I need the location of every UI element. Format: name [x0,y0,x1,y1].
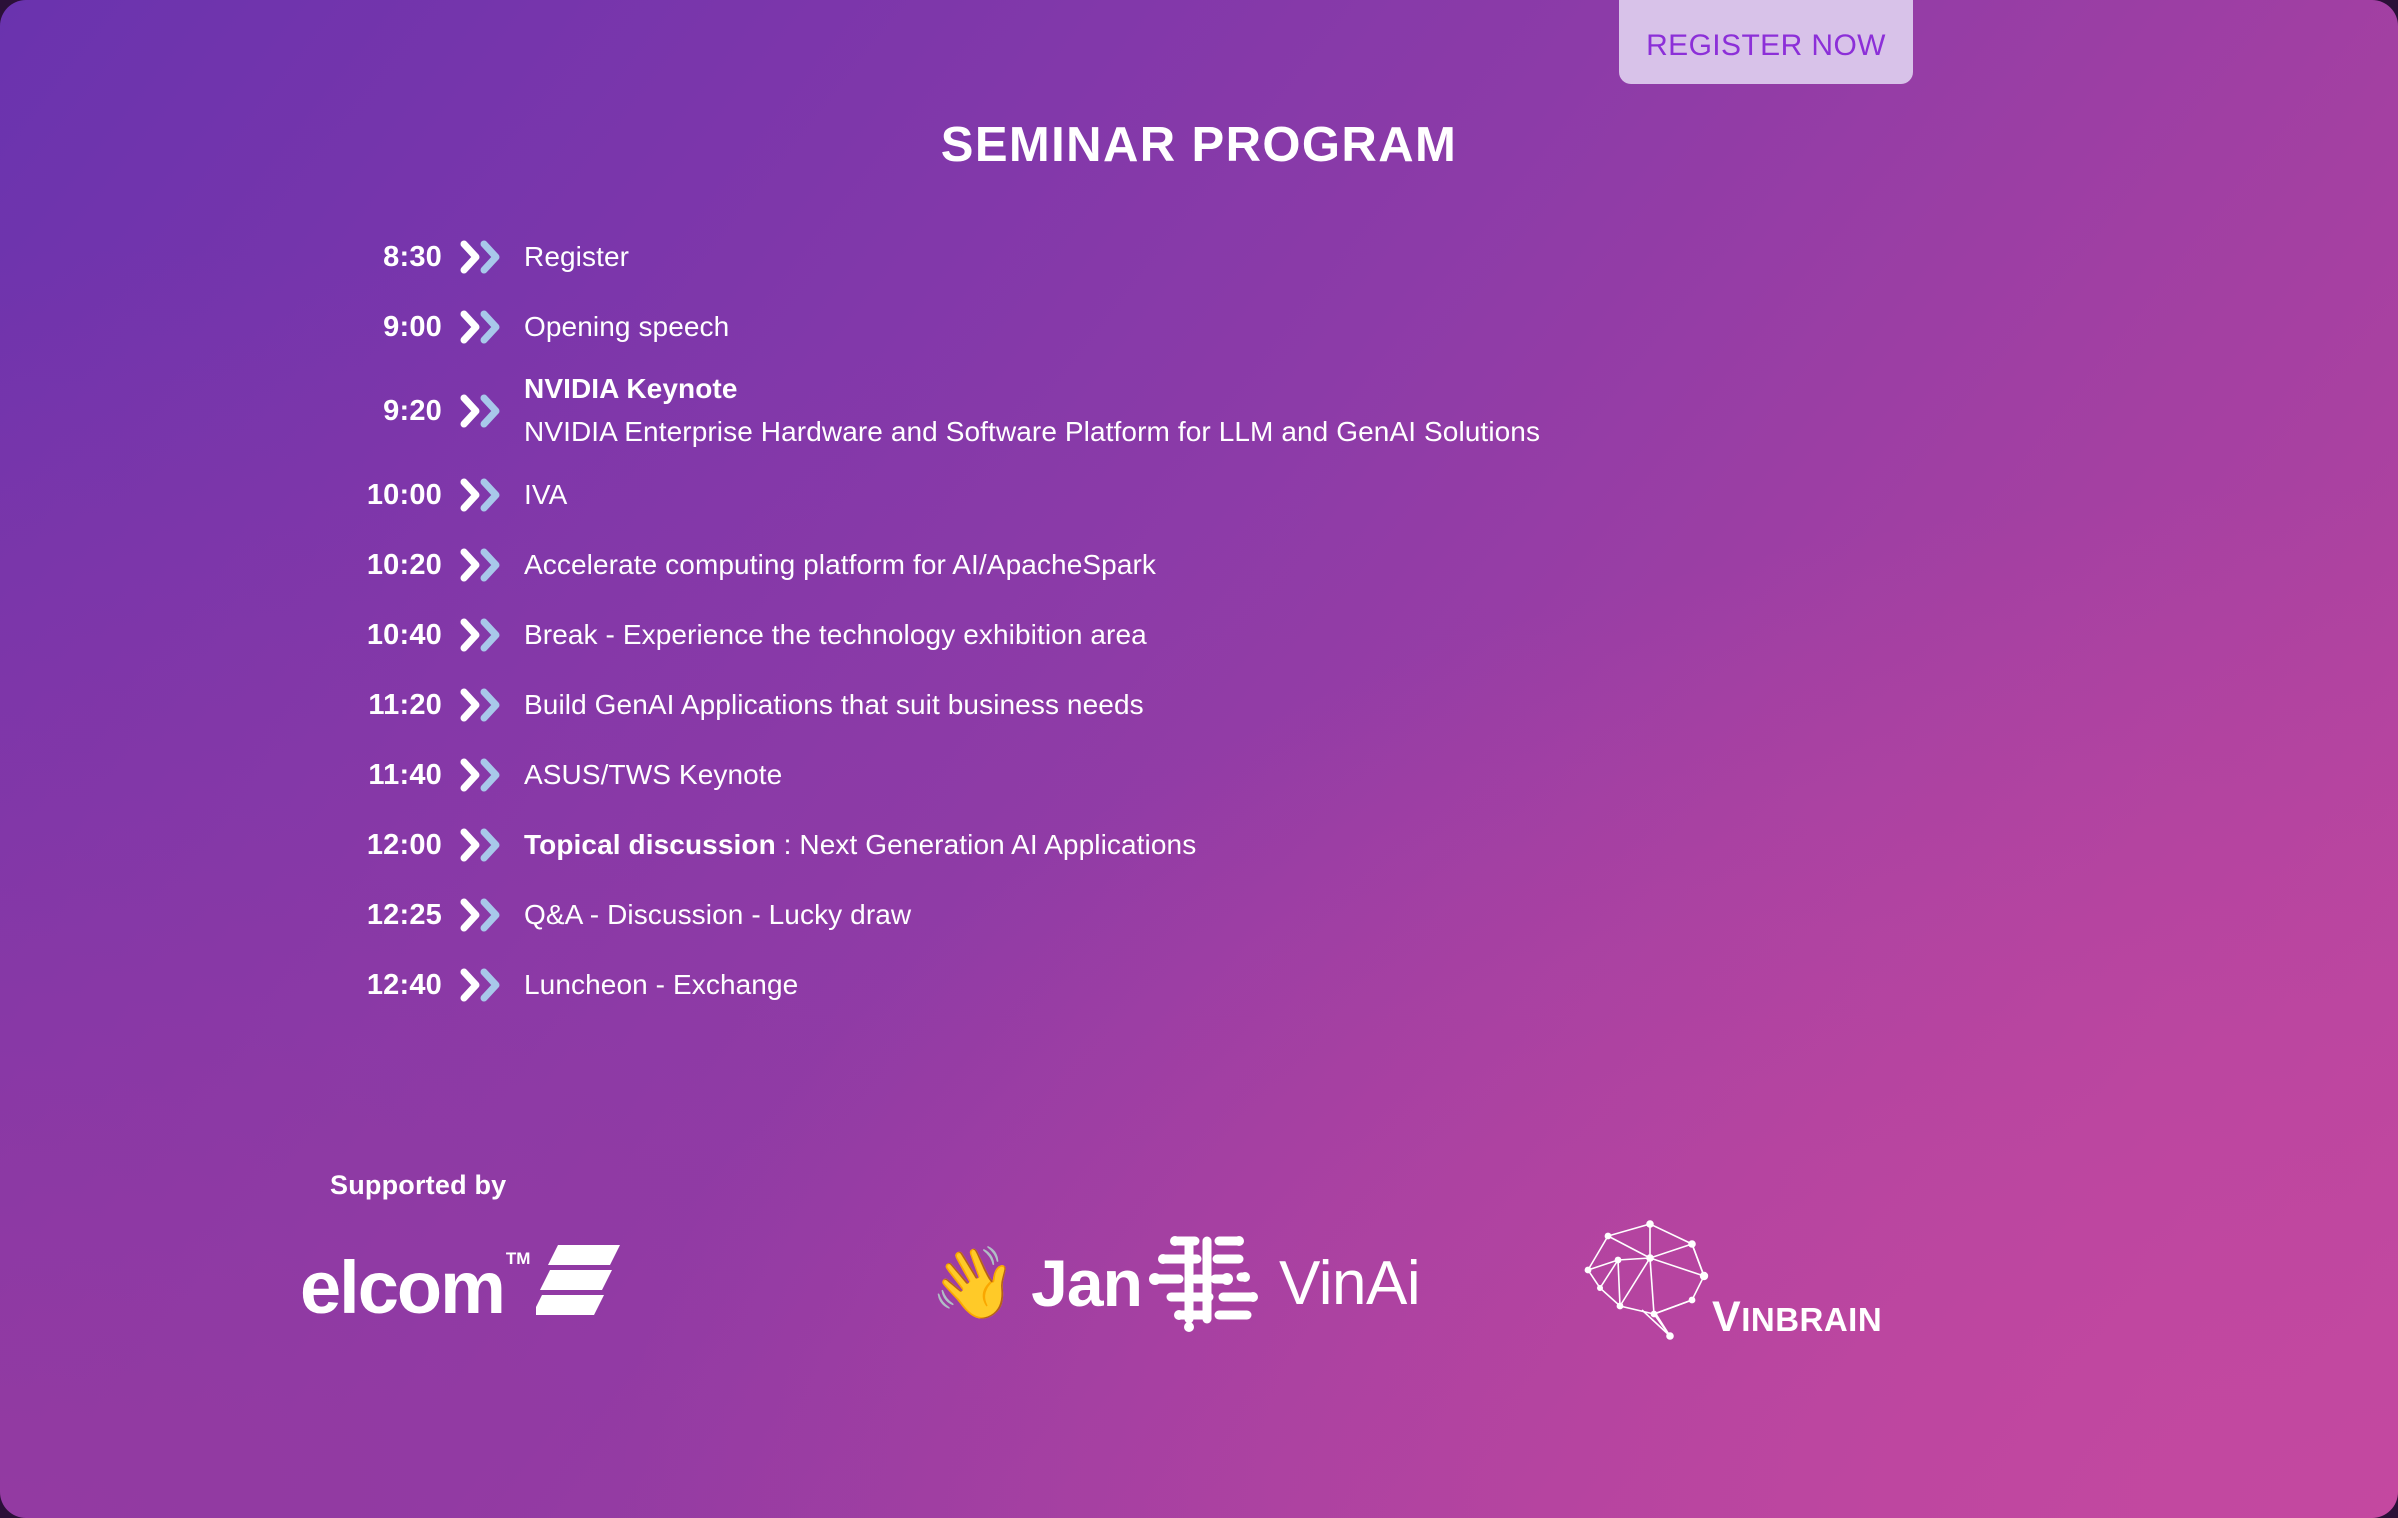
agenda-row: 10:40 Break - Experience the technology … [330,600,2030,670]
agenda-row: 9:00 Opening speech [330,292,2030,362]
double-chevron-icon [442,478,524,512]
agenda-time: 9:00 [330,311,442,344]
agenda-text: Break - Experience the technology exhibi… [524,614,1147,657]
sponsor-logo-strip: elcom TM 👋 Jan [300,1218,2130,1348]
waving-hand-icon: 👋 [930,1248,1017,1318]
agenda-text: Build GenAI Applications that suit busin… [524,684,1144,727]
agenda-text-main: Luncheon - Exchange [524,964,798,1007]
double-chevron-icon [442,618,524,652]
agenda-text: Topical discussion : Next Generation AI … [524,824,1196,867]
agenda-list: 8:30 Register 9:00 Opening speech [330,222,2030,1020]
agenda-text-main: Register [524,236,629,279]
vinbrain-wordmark: VINBRAIN [1712,1293,1882,1342]
double-chevron-icon [442,758,524,792]
agenda-text-title: NVIDIA Keynote [524,368,1540,411]
sponsor-logo-jan[interactable]: 👋 Jan [700,1245,1120,1321]
agenda-row: 10:00 IVA [330,460,2030,530]
double-chevron-icon [442,394,524,428]
agenda-text-bold-prefix: Topical discussion [524,829,776,860]
agenda-row: 12:25 Q&A - Discussion - Lucky draw [330,880,2030,950]
agenda-time: 12:25 [330,899,442,932]
agenda-text-main: NVIDIA Enterprise Hardware and Software … [524,411,1540,454]
agenda-time: 10:40 [330,619,442,652]
vinai-wordmark: VinAi [1279,1248,1420,1319]
agenda-text-main: Topical discussion : Next Generation AI … [524,824,1196,867]
agenda-text: Register [524,236,629,279]
agenda-text-main: IVA [524,474,567,517]
agenda-row: 12:00 Topical discussion : Next Generati… [330,810,2030,880]
agenda-text-main: Q&A - Discussion - Lucky draw [524,894,911,937]
agenda-time: 10:20 [330,549,442,582]
agenda-text-main: Build GenAI Applications that suit busin… [524,684,1144,727]
agenda-text: Q&A - Discussion - Lucky draw [524,894,911,937]
agenda-time: 11:20 [330,689,442,722]
agenda-text-rest: : Next Generation AI Applications [776,829,1197,860]
double-chevron-icon [442,240,524,274]
agenda-time: 8:30 [330,241,442,274]
elcom-wordmark: elcom [300,1253,504,1323]
agenda-text: Luncheon - Exchange [524,964,798,1007]
agenda-time: 10:00 [330,479,442,512]
double-chevron-icon [442,688,524,722]
agenda-row: 12:40 Luncheon - Exchange [330,950,2030,1020]
elcom-e-mark-icon [536,1243,622,1322]
sponsor-logo-vinai[interactable]: VinAi [1120,1227,1550,1340]
vinbrain-initial: V [1712,1293,1741,1341]
vinai-circuit-mark-icon [1145,1227,1265,1340]
supported-by-label: Supported by [330,1170,506,1201]
agenda-text-main: Break - Experience the technology exhibi… [524,614,1147,657]
double-chevron-icon [442,310,524,344]
agenda-text-main: Opening speech [524,306,729,349]
double-chevron-icon [442,548,524,582]
agenda-text-main: ASUS/TWS Keynote [524,754,782,797]
double-chevron-icon [442,968,524,1002]
vinbrain-rest: INBRAIN [1741,1301,1882,1338]
seminar-program-page: REGISTER NOW SEMINAR PROGRAM 8:30 Regist… [0,0,2398,1518]
agenda-text: IVA [524,474,567,517]
agenda-row: 9:20 NVIDIA Keynote NVIDIA Enterprise Ha… [330,362,2030,460]
agenda-time: 12:00 [330,829,442,862]
sponsor-logo-elcom[interactable]: elcom TM [300,1243,700,1324]
agenda-text: Accelerate computing platform for AI/Apa… [524,544,1156,587]
sponsor-logo-vinbrain[interactable]: VINBRAIN [1550,1220,1970,1346]
agenda-text: NVIDIA Keynote NVIDIA Enterprise Hardwar… [524,368,1540,453]
double-chevron-icon [442,828,524,862]
agenda-row: 11:20 Build GenAI Applications that suit… [330,670,2030,740]
agenda-time: 12:40 [330,969,442,1002]
double-chevron-icon [442,898,524,932]
agenda-text: ASUS/TWS Keynote [524,754,782,797]
agenda-text-main: Accelerate computing platform for AI/Apa… [524,544,1156,587]
page-title: SEMINAR PROGRAM [0,117,2398,173]
agenda-row: 10:20 Accelerate computing platform for … [330,530,2030,600]
agenda-row: 11:40 ASUS/TWS Keynote [330,740,2030,810]
agenda-time: 9:20 [330,395,442,428]
register-now-button[interactable]: REGISTER NOW [1619,0,1913,84]
trademark-icon: TM [506,1249,531,1269]
agenda-row: 8:30 Register [330,222,2030,292]
agenda-text: Opening speech [524,306,729,349]
agenda-time: 11:40 [330,759,442,792]
